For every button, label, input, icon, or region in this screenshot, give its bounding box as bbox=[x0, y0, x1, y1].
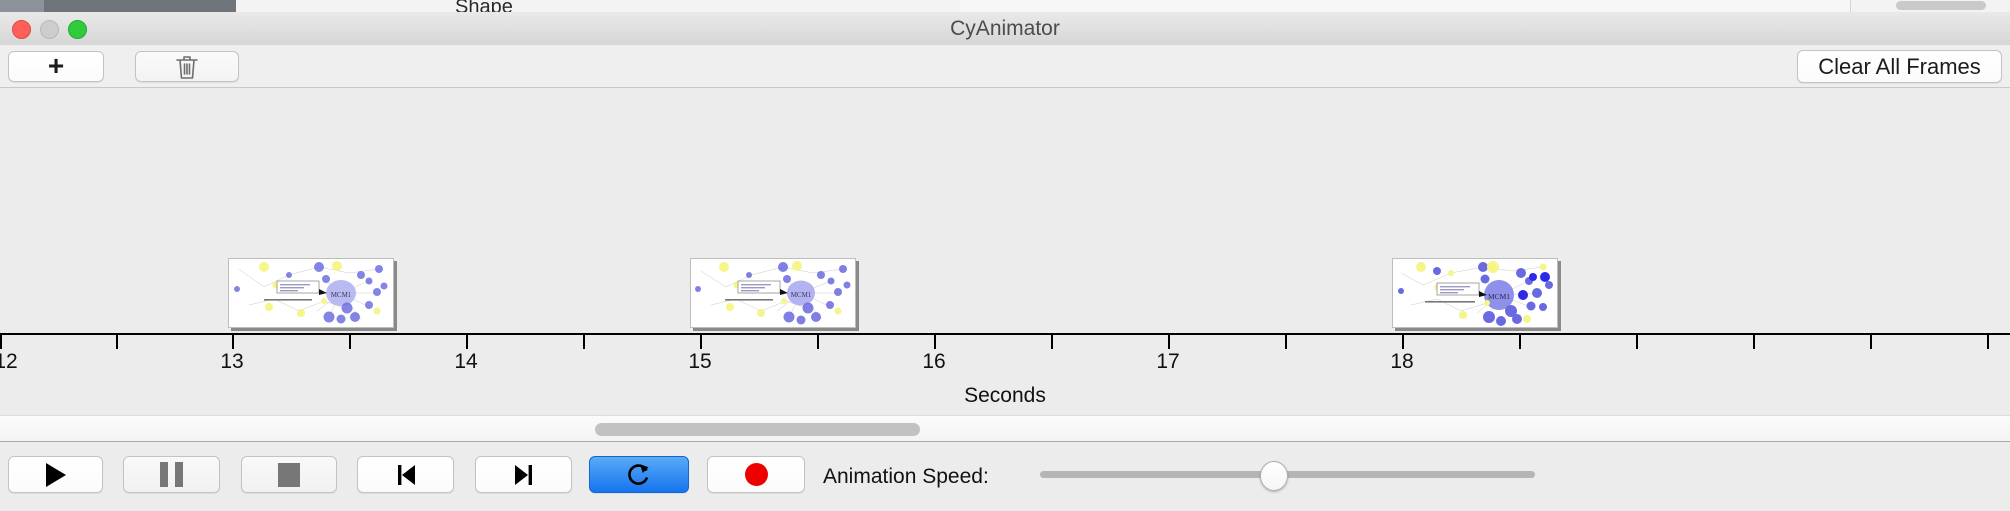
timeline-tick bbox=[700, 335, 702, 349]
add-frame-button[interactable]: + bbox=[8, 51, 104, 82]
timeline-tick-minor bbox=[1285, 335, 1287, 349]
timeline-tick-label: 17 bbox=[1156, 350, 1179, 374]
previous-frame-button[interactable] bbox=[357, 456, 454, 493]
timeline-tick bbox=[1870, 335, 1872, 349]
timeline-scrollbar-track[interactable] bbox=[0, 415, 2010, 441]
keyframe-thumbnail-1[interactable]: MCM1 bbox=[228, 258, 397, 331]
loop-icon bbox=[626, 461, 652, 489]
stop-button[interactable] bbox=[241, 456, 337, 493]
clear-all-frames-button[interactable]: Clear All Frames bbox=[1797, 50, 2002, 83]
timeline-tick-minor bbox=[1987, 335, 1989, 349]
keyframe-thumbnail-2[interactable]: MCM1 bbox=[690, 258, 859, 331]
background-sidebar-dark bbox=[0, 0, 44, 12]
svg-text:MCM1: MCM1 bbox=[1488, 292, 1510, 301]
keyframe-thumbnail-3[interactable]: MCM1 bbox=[1392, 258, 1561, 331]
timeline-tick-label: 16 bbox=[922, 350, 945, 374]
pause-button[interactable] bbox=[123, 456, 220, 493]
background-scrollbar[interactable] bbox=[1896, 1, 1986, 10]
network-diagram-icon: MCM1 bbox=[691, 259, 855, 327]
delete-frame-button[interactable] bbox=[135, 51, 239, 82]
timeline-tick bbox=[0, 335, 2, 349]
background-table-cell bbox=[1230, 0, 1341, 12]
timeline-tick-minor bbox=[116, 335, 118, 349]
timeline-tick bbox=[232, 335, 234, 349]
timeline-tick-label: 12 bbox=[0, 350, 18, 374]
background-table-cell bbox=[1340, 0, 1461, 12]
background-table-cell bbox=[1460, 0, 1601, 12]
background-table-cell bbox=[1090, 0, 1231, 12]
network-diagram-icon: MCM1 bbox=[229, 259, 393, 327]
play-button[interactable] bbox=[8, 456, 103, 493]
timeline-tick bbox=[1636, 335, 1638, 349]
thumbnail-network-view: MCM1 bbox=[228, 258, 394, 328]
next-frame-button[interactable] bbox=[475, 456, 572, 493]
timeline-scrollbar-thumb[interactable] bbox=[595, 423, 920, 436]
animation-speed-slider[interactable] bbox=[1040, 471, 1535, 478]
window-title: CyAnimator bbox=[0, 12, 2010, 45]
title-bar: CyAnimator bbox=[0, 12, 2010, 46]
timeline-tick bbox=[934, 335, 936, 349]
timeline-tick-label: 15 bbox=[688, 350, 711, 374]
svg-text:MCM1: MCM1 bbox=[331, 291, 352, 299]
timeline-tick bbox=[1168, 335, 1170, 349]
loop-button[interactable] bbox=[589, 456, 689, 493]
background-table-cell bbox=[1720, 0, 1851, 12]
record-button[interactable] bbox=[707, 456, 805, 493]
timeline-tick bbox=[466, 335, 468, 349]
background-table-cell bbox=[960, 0, 1091, 12]
timeline-tick-minor bbox=[349, 335, 351, 349]
timeline-tick-minor bbox=[583, 335, 585, 349]
network-diagram-icon: MCM1 bbox=[1393, 259, 1557, 327]
playback-control-bar: Animation Speed: bbox=[0, 441, 2010, 511]
timeline-tick-minor bbox=[1519, 335, 1521, 349]
timeline-tick-label: 14 bbox=[454, 350, 477, 374]
cyanimator-window: Shape CyAnimator + Clear All Frames bbox=[0, 0, 2010, 510]
svg-text:MCM1: MCM1 bbox=[791, 291, 812, 299]
timeline-tick-minor bbox=[817, 335, 819, 349]
thumbnail-network-view: MCM1 bbox=[690, 258, 856, 328]
timeline-tick-label: 18 bbox=[1390, 350, 1413, 374]
background-sidebar-dark-2 bbox=[44, 0, 236, 12]
record-icon bbox=[745, 463, 768, 486]
timeline-tick-label: 13 bbox=[220, 350, 243, 374]
skip-start-icon bbox=[394, 462, 418, 488]
frame-toolbar: + Clear All Frames bbox=[0, 45, 2010, 88]
timeline-panel[interactable]: MCM1 bbox=[0, 88, 2010, 415]
skip-end-icon bbox=[512, 462, 536, 488]
timeline-ruler-line bbox=[0, 333, 2010, 335]
pause-icon bbox=[160, 462, 183, 487]
trash-icon bbox=[174, 53, 200, 81]
timeline-axis-label: Seconds bbox=[0, 384, 2010, 408]
thumbnail-network-view: MCM1 bbox=[1392, 258, 1558, 328]
timeline-tick-minor bbox=[1753, 335, 1755, 349]
animation-speed-slider-knob[interactable] bbox=[1260, 461, 1288, 491]
background-table-cell bbox=[1600, 0, 1721, 12]
stop-icon bbox=[278, 463, 300, 487]
play-icon bbox=[46, 463, 66, 487]
timeline-tick bbox=[1402, 335, 1404, 349]
timeline-tick-minor bbox=[1051, 335, 1053, 349]
animation-speed-label: Animation Speed: bbox=[823, 465, 989, 489]
plus-icon: + bbox=[48, 52, 64, 80]
clear-all-frames-label: Clear All Frames bbox=[1818, 54, 1981, 80]
